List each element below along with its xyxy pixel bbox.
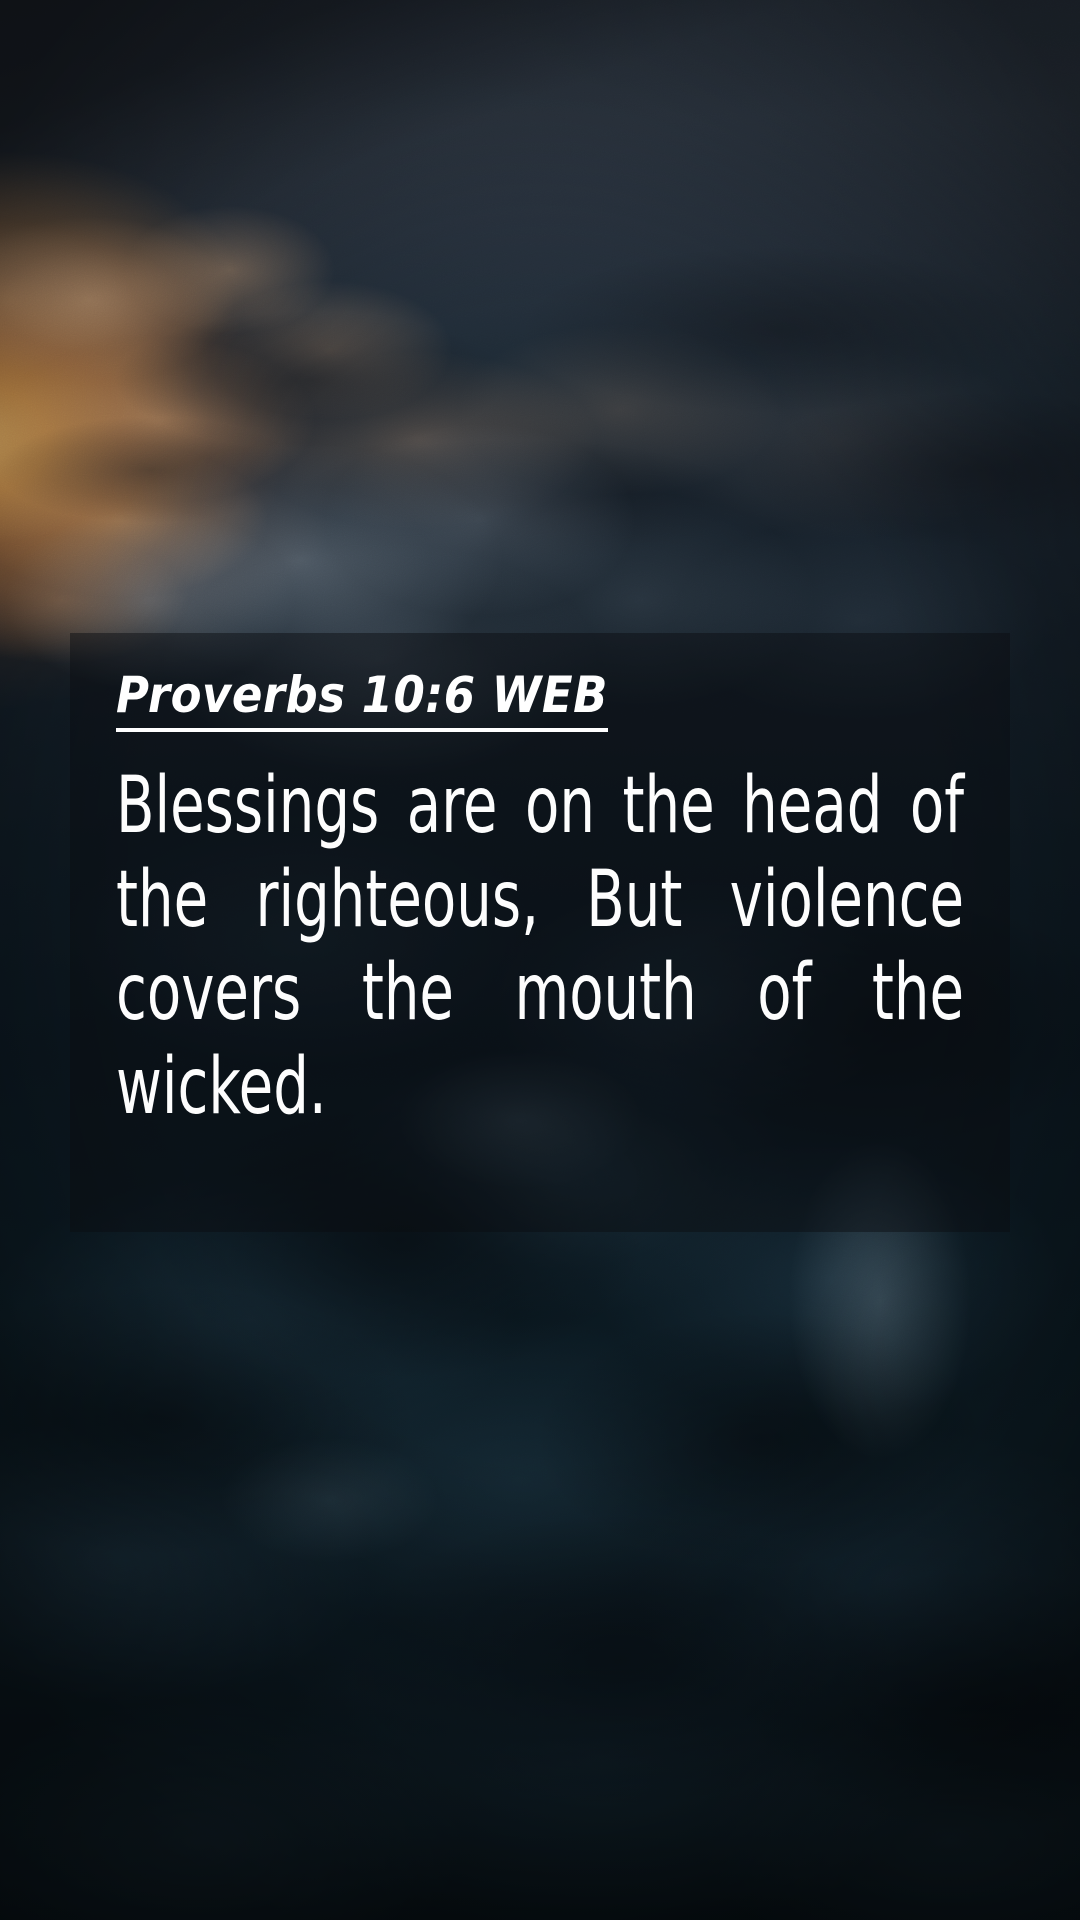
verse-overlay-card: Proverbs 10:6 WEB Blessings are on the h…: [70, 633, 1010, 1232]
verse-body-text: Blessings are on the head of the righteo…: [116, 760, 964, 1228]
wallpaper-canvas: Proverbs 10:6 WEB Blessings are on the h…: [0, 0, 1080, 1920]
verse-reference-heading: Proverbs 10:6 WEB: [116, 669, 608, 732]
